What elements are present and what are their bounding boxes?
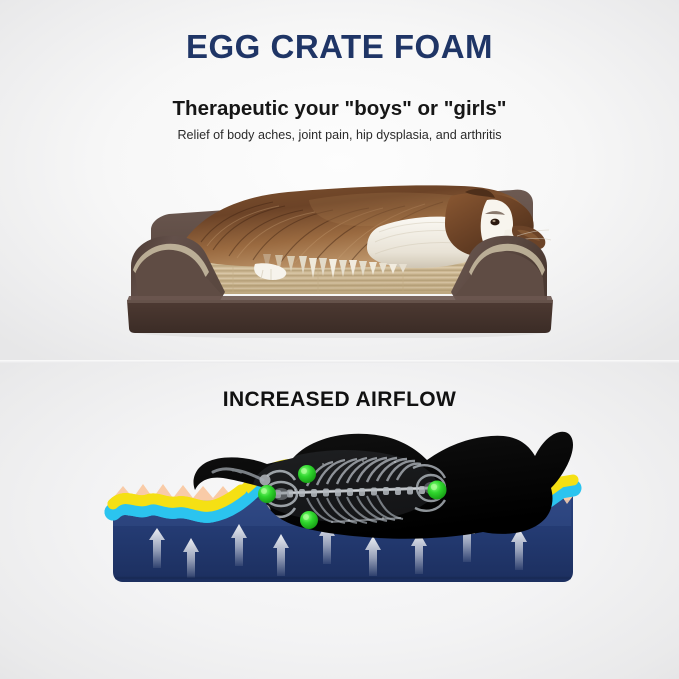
page-title: EGG CRATE FOAM [0,25,679,69]
subtitle-relief-description: Relief of body aches, joint pain, hip dy… [0,126,679,144]
section-title-airflow: INCREASED AIRFLOW [0,386,679,414]
product-photo-dog-bed [113,170,568,338]
infographic-page: EGG CRATE FOAM Therapeutic your "boys" o… [0,0,679,679]
airflow-cross-section-diagram [95,428,589,593]
subtitle-therapeutic: Therapeutic your "boys" or "girls" [0,95,679,123]
